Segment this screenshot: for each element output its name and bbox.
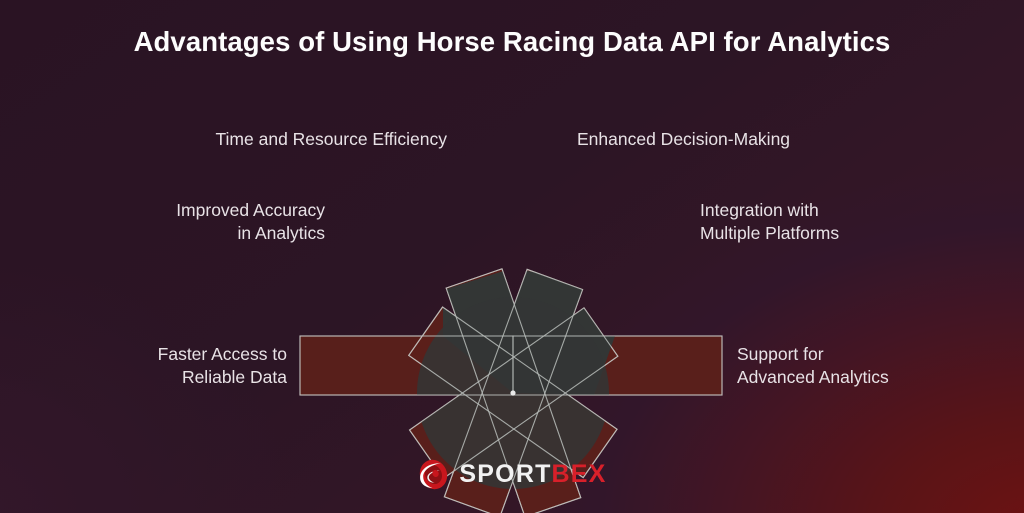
label-support-for-advanced-analytics: Support for Advanced Analytics	[737, 343, 1017, 390]
label-integration-with-multiple-platforms: Integration with Multiple Platforms	[700, 199, 1000, 246]
infographic-canvas: Advantages of Using Horse Racing Data AP…	[0, 0, 1024, 513]
pivot-point	[510, 390, 515, 395]
sportbex-swoosh-icon	[417, 458, 450, 491]
label-faster-access-to-reliable-data: Faster Access to Reliable Data	[15, 343, 287, 390]
logo-wordmark: SPORT BEX	[459, 462, 606, 487]
radiating-blade-fan-graphic	[0, 0, 1024, 513]
logo-text-sport: SPORT	[459, 462, 551, 487]
logo-text-bex: BEX	[552, 462, 607, 487]
label-improved-accuracy-in-analytics: Improved Accuracy in Analytics	[15, 199, 325, 246]
label-time-and-resource-efficiency: Time and Resource Efficiency	[105, 128, 447, 151]
label-enhanced-decision-making: Enhanced Decision-Making	[577, 128, 977, 151]
brand-logo: SPORT BEX	[0, 458, 1024, 491]
